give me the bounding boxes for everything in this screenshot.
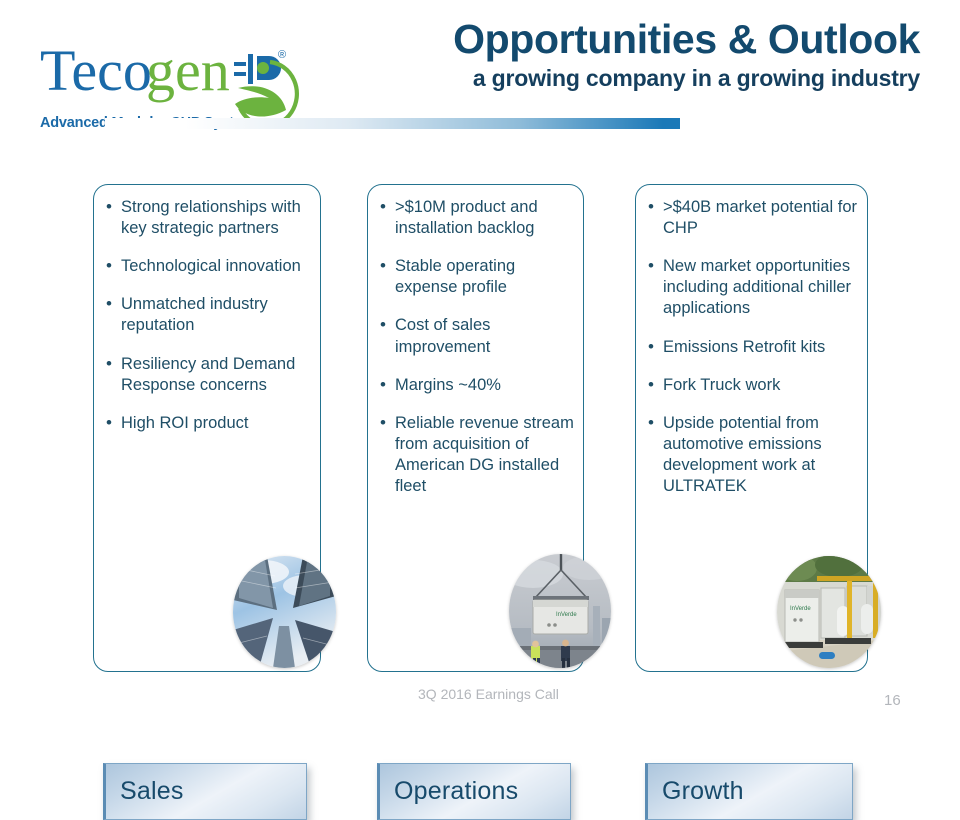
card-label-bar-sales: Sales bbox=[103, 763, 307, 820]
list-item: Technological innovation bbox=[104, 256, 312, 277]
card-label-sales: Sales bbox=[106, 777, 184, 806]
list-item: Fork Truck work bbox=[646, 375, 859, 396]
list-item: Resiliency and Demand Response concerns bbox=[104, 354, 312, 396]
card-label-growth: Growth bbox=[648, 777, 744, 806]
bullet-list-operations: >$10M product and installation backlog S… bbox=[378, 197, 575, 514]
card-label-bar-growth: Growth bbox=[645, 763, 853, 820]
slide-canvas: Teco gen ® Advanced Modular CHP Systems … bbox=[0, 0, 960, 720]
bullet-list-sales: Strong relationships with key strategic … bbox=[104, 197, 312, 451]
footer-note: 3Q 2016 Earnings Call bbox=[418, 686, 559, 702]
list-item: >$10M product and installation backlog bbox=[378, 197, 575, 239]
list-item: Margins ~40% bbox=[378, 375, 575, 396]
svg-text:InVerde: InVerde bbox=[790, 606, 811, 612]
list-item: New market opportunities including addit… bbox=[646, 256, 859, 319]
list-item: Upside potential from automotive emissio… bbox=[646, 413, 859, 497]
list-item: Strong relationships with key strategic … bbox=[104, 197, 312, 239]
list-item: High ROI product bbox=[104, 413, 312, 434]
list-item: Stable operating expense profile bbox=[378, 256, 575, 298]
page-number: 16 bbox=[884, 692, 901, 709]
svg-text:InVerde: InVerde bbox=[556, 612, 577, 618]
bullet-list-growth: >$40B market potential for CHP New marke… bbox=[646, 197, 859, 514]
card-label-bar-operations: Operations bbox=[377, 763, 571, 820]
skyscrapers-upward-view-photo bbox=[233, 556, 336, 668]
list-item: Emissions Retrofit kits bbox=[646, 337, 859, 358]
list-item: >$40B market potential for CHP bbox=[646, 197, 859, 239]
inverde-chp-units-outdoor-photo: InVerde bbox=[777, 556, 881, 668]
card-label-operations: Operations bbox=[380, 777, 518, 806]
crane-lifting-chp-module-photo: InVerde bbox=[509, 554, 611, 668]
list-item: Unmatched industry reputation bbox=[104, 294, 312, 336]
list-item: Cost of sales improvement bbox=[378, 315, 575, 357]
list-item: Reliable revenue stream from acquisition… bbox=[378, 413, 575, 497]
